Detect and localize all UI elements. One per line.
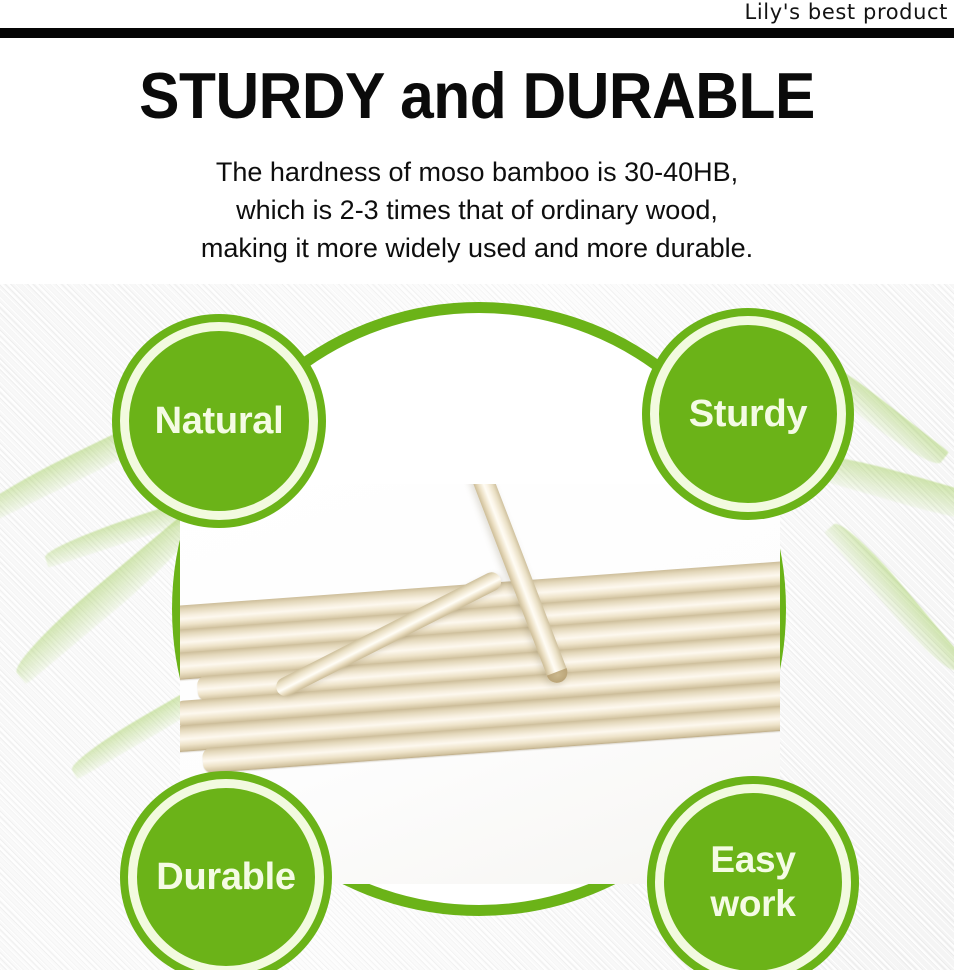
- feature-label-easy-work-line-2: work: [710, 882, 795, 926]
- feature-label-durable: Durable: [150, 856, 301, 899]
- brand-divider-rule: [0, 28, 954, 38]
- feature-label-natural: Natural: [149, 400, 290, 443]
- hero-panel: Natural Sturdy Durable Easy work: [0, 284, 954, 970]
- subcopy-line-1: The hardness of moso bamboo is 30-40HB,: [0, 153, 954, 191]
- bamboo-leaf-icon: [824, 516, 954, 678]
- feature-label-sturdy: Sturdy: [683, 393, 814, 436]
- headline-block: STURDY and DURABLE The hardness of moso …: [0, 38, 954, 284]
- feature-circle-sturdy[interactable]: Sturdy: [650, 316, 846, 512]
- brand-name: Lily's best product: [745, 0, 948, 24]
- subcopy: The hardness of moso bamboo is 30-40HB, …: [0, 153, 954, 267]
- feature-label-easy-work: Easy work: [704, 838, 801, 926]
- subcopy-line-3: making it more widely used and more dura…: [0, 229, 954, 267]
- subcopy-line-2: which is 2-3 times that of ordinary wood…: [0, 191, 954, 229]
- feature-circle-easy-work[interactable]: Easy work: [655, 784, 851, 970]
- feature-label-easy-work-line-1: Easy: [710, 838, 795, 882]
- page-title: STURDY and DURABLE: [33, 58, 920, 134]
- feature-circle-durable[interactable]: Durable: [128, 779, 324, 970]
- product-banner: Lily's best product STURDY and DURABLE T…: [0, 0, 954, 970]
- brand-strip: Lily's best product: [0, 0, 954, 28]
- feature-circle-natural[interactable]: Natural: [120, 322, 318, 520]
